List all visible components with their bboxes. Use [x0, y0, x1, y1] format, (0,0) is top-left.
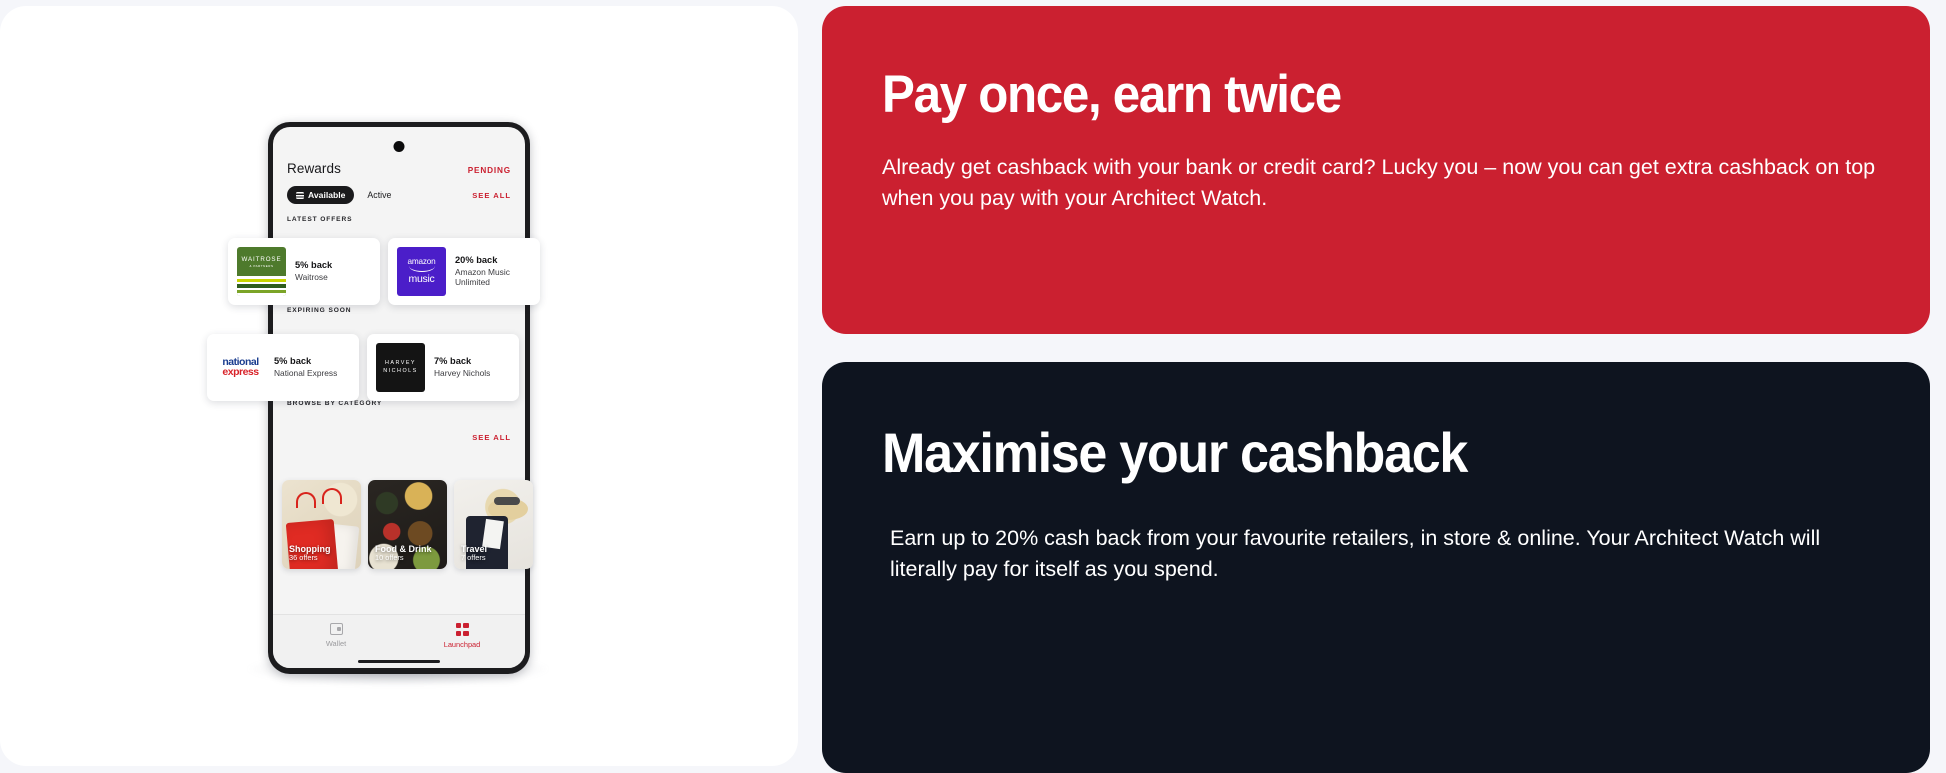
offer-brand: Amazon Music Unlimited [455, 267, 517, 288]
tab-group: Available Active [287, 186, 391, 204]
waitrose-logo: WAITROSE & PARTNERS [237, 247, 286, 296]
page-title: Rewards [287, 161, 341, 176]
panel-title: Pay once, earn twice [882, 68, 1808, 122]
screen-header: Rewards PENDING [287, 161, 511, 176]
phone-showcase-card: Rewards PENDING Available Active [0, 6, 798, 766]
panel-maximise-your-cashback: Maximise your cashback Earn up to 20% ca… [822, 362, 1930, 773]
amazon-music-logo: amazon music [397, 247, 446, 296]
category-count: 36 offers [289, 554, 331, 563]
national-express-logo: national express [216, 343, 265, 392]
latest-offers-strip: WAITROSE & PARTNERS 5% back Waitrose [228, 238, 540, 305]
home-indicator [358, 660, 440, 663]
marketing-panels: Pay once, earn twice Already get cashbac… [822, 0, 1946, 773]
offer-amount: 7% back [434, 356, 490, 368]
nav-item-launchpad-label: Launchpad [444, 640, 481, 649]
harvey-nichols-logo: HARVEY NICHOLS [376, 343, 425, 392]
see-all-offers-link[interactable]: SEE ALL [472, 191, 511, 200]
offer-amount: 5% back [295, 260, 332, 272]
tab-available[interactable]: Available [287, 186, 354, 204]
panel-body: Earn up to 20% cash back from your favou… [882, 523, 1878, 584]
section-label-browse-by-category: BROWSE BY CATEGORY [287, 400, 511, 407]
offer-brand: Harvey Nichols [434, 368, 490, 379]
category-tile-food-and-drink[interactable]: Food & Drink 10 offers [368, 480, 447, 569]
category-tile-travel[interactable]: Travel 7 offers [454, 480, 533, 569]
page-root: Rewards PENDING Available Active [0, 0, 1946, 773]
tab-available-label: Available [308, 190, 345, 200]
browse-by-category-row: Shopping 36 offers Food & Drink 10 offer… [282, 480, 533, 569]
section-label-expiring-soon: EXPIRING SOON [287, 307, 511, 314]
tabs-row: Available Active SEE ALL [287, 186, 511, 204]
category-count: 10 offers [375, 554, 432, 563]
bottom-navigation-bar: Wallet Launchpad [273, 614, 525, 668]
nav-item-launchpad[interactable]: Launchpad [399, 623, 525, 649]
nav-item-wallet-label: Wallet [326, 639, 346, 648]
nav-item-wallet[interactable]: Wallet [273, 623, 399, 648]
panel-pay-once-earn-twice: Pay once, earn twice Already get cashbac… [822, 6, 1930, 334]
offer-card-national-express[interactable]: national express 5% back National Expres… [207, 334, 359, 401]
category-tile-shopping[interactable]: Shopping 36 offers [282, 480, 361, 569]
section-label-latest-offers: LATEST OFFERS [287, 216, 511, 223]
launchpad-grid-icon [456, 623, 469, 636]
offer-brand: Waitrose [295, 272, 332, 283]
offer-amount: 5% back [274, 356, 337, 368]
pending-link[interactable]: PENDING [468, 166, 511, 175]
offer-card-waitrose[interactable]: WAITROSE & PARTNERS 5% back Waitrose [228, 238, 380, 305]
offer-amount: 20% back [455, 255, 517, 267]
panel-title: Maximise your cashback [882, 424, 1808, 481]
see-all-categories-link[interactable]: SEE ALL [472, 433, 511, 442]
tab-active[interactable]: Active [367, 190, 391, 200]
expiring-soon-strip: national express 5% back National Expres… [207, 334, 519, 401]
phone-stage: Rewards PENDING Available Active [0, 6, 798, 766]
offer-brand: National Express [274, 368, 337, 379]
card-icon [296, 192, 304, 199]
panel-body: Already get cashback with your bank or c… [882, 152, 1878, 213]
wallet-icon [330, 623, 343, 635]
category-count: 7 offers [461, 554, 487, 563]
offer-card-harvey-nichols[interactable]: HARVEY NICHOLS 7% back Harvey Nichols [367, 334, 519, 401]
offer-card-amazon-music[interactable]: amazon music 20% back Amazon Music Unlim… [388, 238, 540, 305]
